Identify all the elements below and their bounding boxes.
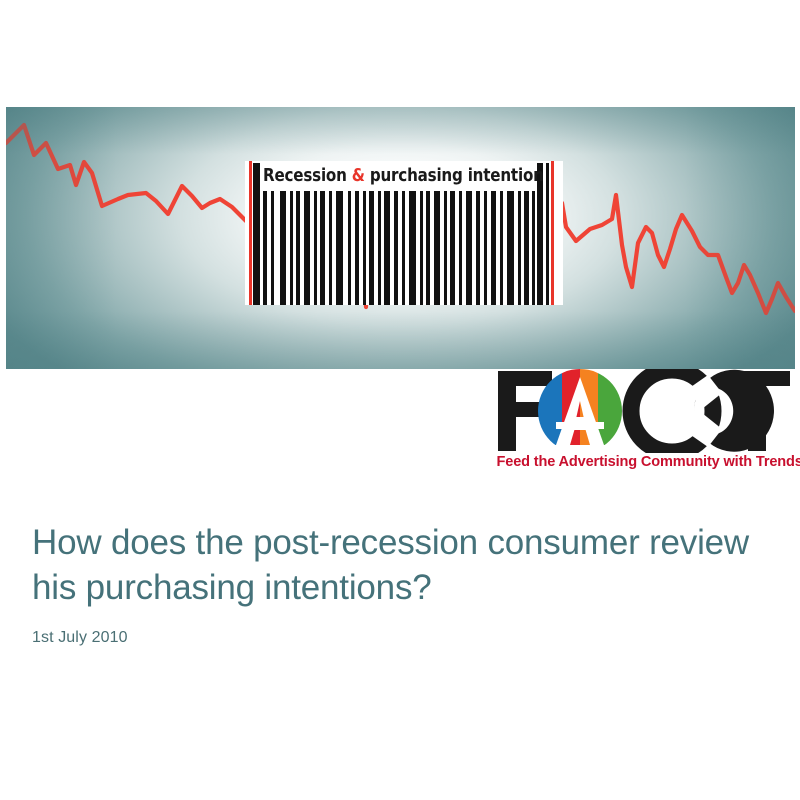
barcode-bar xyxy=(320,191,325,305)
barcode-caption-prefix: Recession xyxy=(263,166,352,186)
barcode-bar xyxy=(420,191,423,305)
hero-banner: Recession & purchasing intention xyxy=(6,107,795,369)
trend-line-right-segment xyxy=(562,195,795,313)
barcode-bars xyxy=(263,191,535,305)
barcode-guard-right xyxy=(551,161,554,305)
barcode-bar xyxy=(290,191,293,305)
barcode-bar xyxy=(507,191,514,305)
barcode-caption: Recession & purchasing intention xyxy=(263,163,534,189)
barcode-bar xyxy=(336,191,343,305)
barcode-bar xyxy=(476,191,480,305)
barcode-bar xyxy=(355,191,359,305)
barcode-bar xyxy=(304,191,310,305)
barcode-bar xyxy=(271,191,274,305)
barcode-bar xyxy=(532,191,535,305)
barcode-bar xyxy=(369,191,374,305)
barcode-edge-bar-right-2 xyxy=(546,163,549,305)
slide-date: 1st July 2010 xyxy=(32,628,762,648)
fact-wordmark xyxy=(492,369,794,453)
barcode-bar xyxy=(263,191,267,305)
barcode-bar xyxy=(280,191,286,305)
barcode-bar xyxy=(491,191,496,305)
barcode-bar xyxy=(329,191,332,305)
barcode-bar xyxy=(296,191,300,305)
barcode-bar xyxy=(409,191,416,305)
barcode-bar xyxy=(459,191,462,305)
barcode-bar xyxy=(384,191,390,305)
barcode-bar xyxy=(363,191,366,305)
page-title: How does the post-recession consumer rev… xyxy=(32,520,762,610)
barcode-bar xyxy=(450,191,455,305)
barcode-bar xyxy=(444,191,447,305)
barcode-edge-bar-left xyxy=(253,163,260,305)
barcode-bar xyxy=(484,191,487,305)
barcode-bar xyxy=(378,191,381,305)
barcode-bar xyxy=(348,191,351,305)
fact-tagline: Feed the Advertising Community with Tren… xyxy=(497,453,790,470)
barcode-bar xyxy=(434,191,440,305)
barcode-caption-ampersand: & xyxy=(352,166,365,186)
title-block: How does the post-recession consumer rev… xyxy=(32,520,762,648)
barcode-bar xyxy=(394,191,398,305)
barcode-graphic: Recession & purchasing intention xyxy=(245,161,563,305)
barcode-bar xyxy=(426,191,430,305)
barcode-guard-left xyxy=(249,161,252,305)
barcode-bar xyxy=(518,191,521,305)
title-slide: Recession & purchasing intention xyxy=(0,0,800,800)
barcode-bar xyxy=(314,191,317,305)
fact-logo: Feed the Advertising Community with Tren… xyxy=(492,369,794,477)
barcode-bar xyxy=(466,191,472,305)
barcode-bar xyxy=(402,191,405,305)
barcode-bar xyxy=(500,191,503,305)
barcode-caption-suffix: purchasing intention xyxy=(365,166,544,186)
barcode-bar xyxy=(524,191,529,305)
